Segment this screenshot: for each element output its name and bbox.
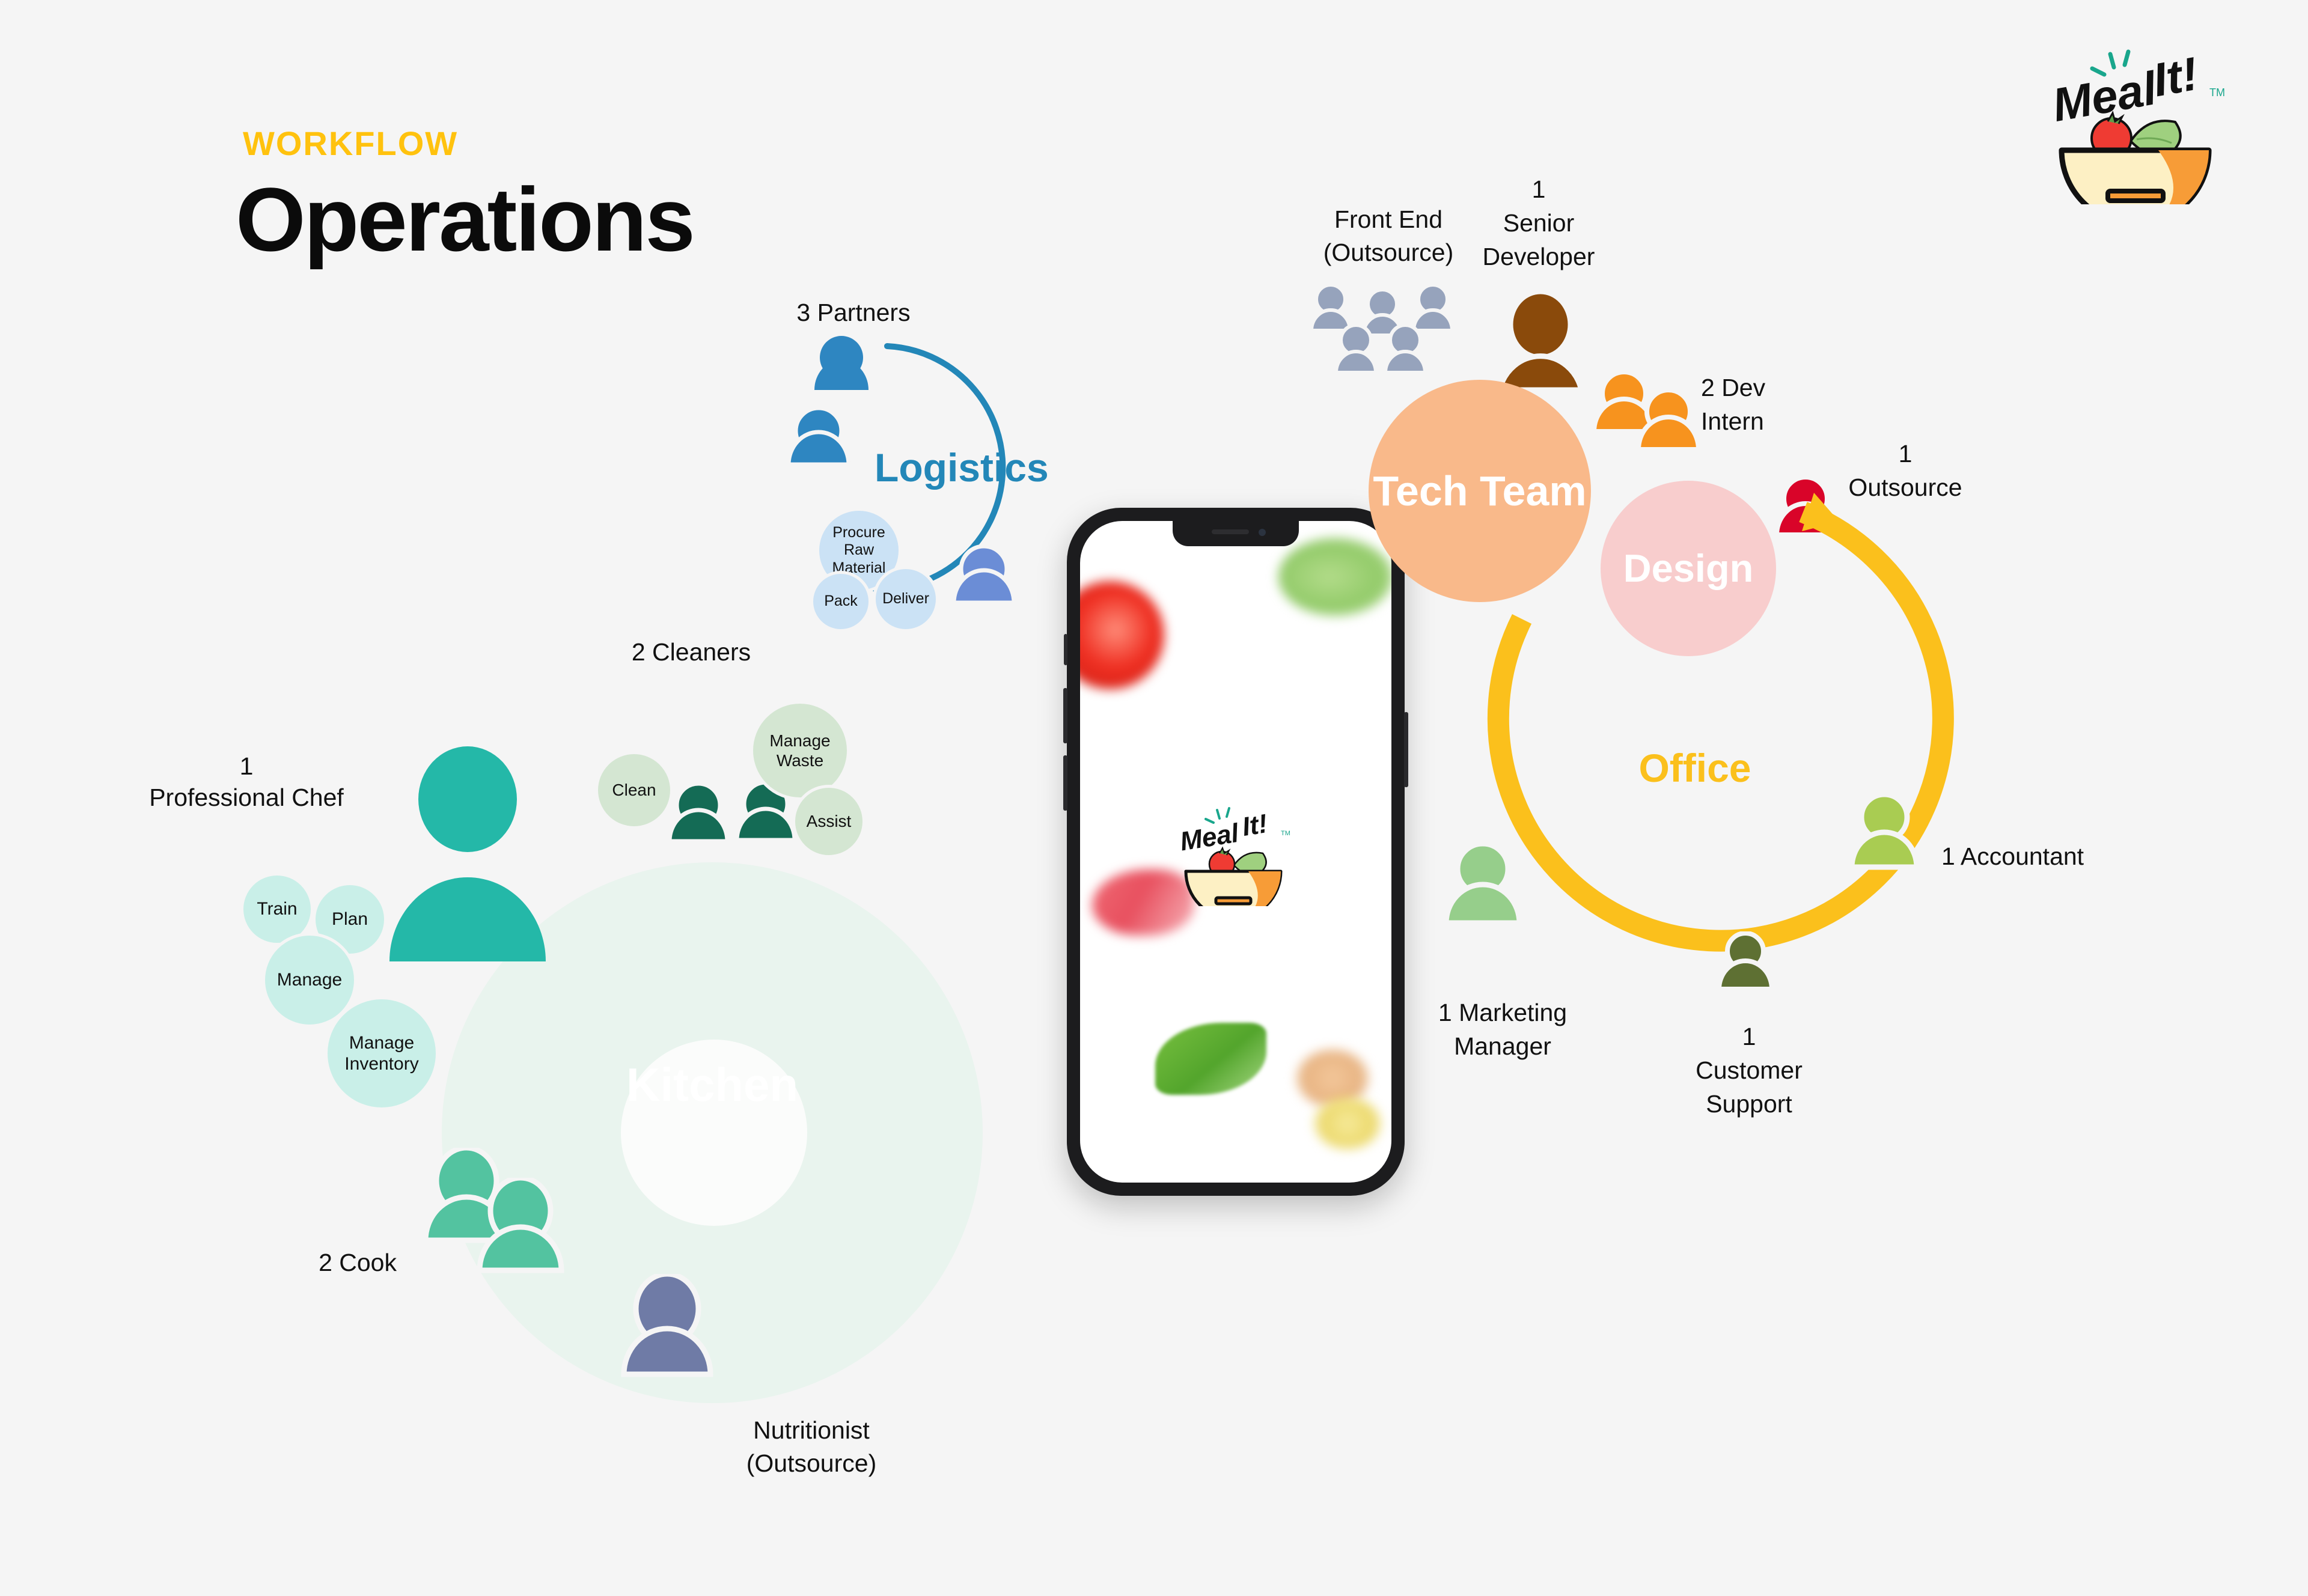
marketing-manager-person: [1442, 841, 1523, 951]
phone-mute-switch[interactable]: [1064, 634, 1067, 665]
customer-support-person: [1717, 931, 1774, 1010]
svg-text:It!: It!: [1240, 809, 1269, 842]
support-label-line1: 1: [1653, 1022, 1845, 1052]
page-title: Operations: [236, 174, 694, 264]
spice-image: [1296, 1050, 1369, 1107]
app-splash-logo: Meal It! TM: [1167, 798, 1305, 906]
logistics-task-deliver[interactable]: Deliver: [873, 566, 939, 632]
dev-intern-label-line2: Intern: [1701, 406, 1851, 437]
workflow-diagram-canvas: WORKFLOW Operations Meal It! TM: [0, 0, 2308, 1596]
partners-label: 3 Partners: [745, 297, 962, 328]
phone-power-button[interactable]: [1404, 712, 1408, 787]
kitchen-task-manage-inventory[interactable]: Manage Inventory: [325, 996, 439, 1110]
svg-text:TM: TM: [1281, 830, 1290, 837]
kitchen-hub-label: Kitchen: [442, 1058, 983, 1112]
accountant-label: 1 Accountant: [1941, 841, 2158, 872]
phone-volume-down[interactable]: [1063, 755, 1067, 811]
marketing-label-line1: 1 Marketing: [1406, 997, 1599, 1028]
phone-volume-up[interactable]: [1063, 688, 1067, 743]
logistics-task-pack[interactable]: Pack: [810, 571, 872, 632]
partner-person-1: [808, 334, 875, 412]
page-kicker: WORKFLOW: [243, 124, 458, 163]
cleaner-task-clean[interactable]: Clean: [595, 751, 673, 829]
senior-dev-label-line2: Senior: [1449, 208, 1629, 239]
phone-screen: Meal It! TM: [1080, 521, 1391, 1183]
meal-it-logo: Meal It! TM: [2041, 30, 2239, 204]
cook-label: 2 Cook: [240, 1247, 397, 1278]
dev-intern-person-2: [1635, 388, 1702, 475]
cleaner-task-assist[interactable]: Assist: [792, 785, 865, 858]
nutritionist-label-line2: (Outsource): [721, 1448, 902, 1479]
partner-person-3: [948, 544, 1019, 628]
svg-text:Meal: Meal: [1178, 818, 1241, 856]
svg-text:It!: It!: [2149, 47, 2202, 106]
lemon-image: [1314, 1098, 1381, 1149]
phone-front-camera: [1259, 529, 1266, 536]
support-label-line2: Customer: [1653, 1055, 1845, 1086]
senior-dev-label-line1: 1: [1449, 174, 1629, 205]
cleaner-person-1: [666, 781, 731, 865]
marketing-label-line2: Manager: [1406, 1031, 1599, 1062]
accountant-person: [1848, 793, 1920, 892]
trademark-mark: TM: [2209, 87, 2225, 99]
logistics-hub-label: Logistics: [875, 445, 1115, 490]
nutritionist-person: [619, 1274, 715, 1403]
chef-label-line2: Professional Chef: [120, 782, 373, 813]
basil-leaf-image: [1155, 1023, 1266, 1095]
dev-intern-label-line1: 2 Dev: [1701, 373, 1851, 403]
phone-earpiece: [1212, 529, 1249, 534]
office-hub-label: Office: [1557, 745, 1833, 791]
professional-chef-person: [377, 746, 558, 987]
senior-dev-label-line3: Developer: [1449, 242, 1629, 272]
tomato-slice-image: [1080, 581, 1164, 689]
cleaners-label: 2 Cleaners: [571, 637, 811, 668]
nutritionist-label-line1: Nutritionist: [721, 1415, 902, 1446]
partner-person-2: [783, 406, 854, 490]
design-outsource-label-line1: 1: [1827, 439, 1983, 469]
phone-mockup: Meal It! TM: [1067, 508, 1405, 1196]
support-label-line3: Support: [1653, 1089, 1845, 1119]
cook-person-2: [475, 1178, 566, 1298]
chef-label-line1: 1: [120, 751, 373, 782]
green-herb-image: [1278, 538, 1391, 616]
